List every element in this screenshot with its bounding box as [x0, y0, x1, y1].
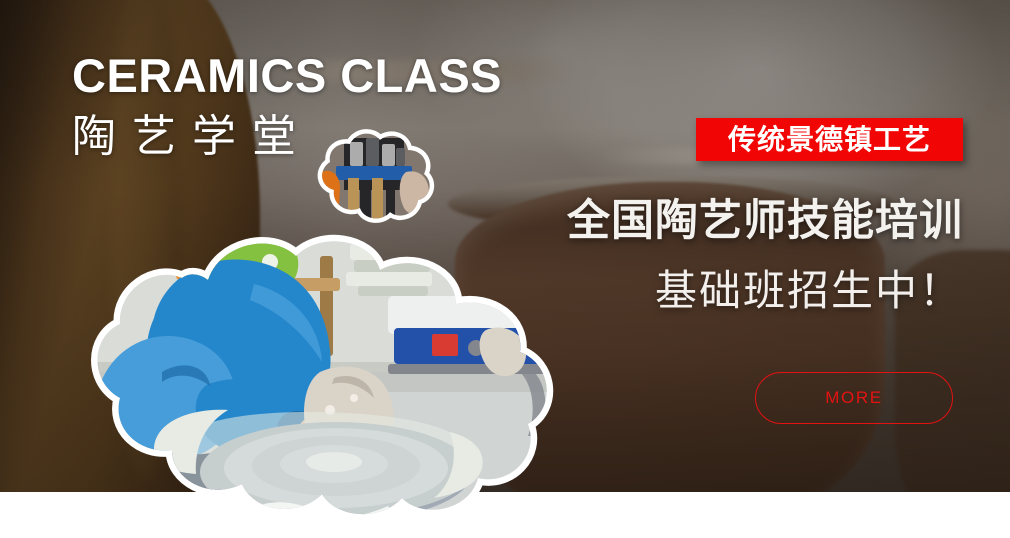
status-badge-label: 传统景德镇工艺 — [728, 126, 931, 154]
page-title-english: CERAMICS CLASS — [72, 52, 502, 99]
ceramics-class-banner: CERAMICS CLASS 陶艺学堂 — [0, 0, 1010, 538]
promo-headline: 全国陶艺师技能培训 — [0, 197, 963, 245]
more-button[interactable]: MORE — [755, 372, 953, 424]
page-title-chinese: 陶艺学堂 — [72, 112, 312, 163]
status-badge: 传统景德镇工艺 — [696, 118, 963, 161]
promo-subline: 基础班招生中！ — [0, 267, 963, 314]
